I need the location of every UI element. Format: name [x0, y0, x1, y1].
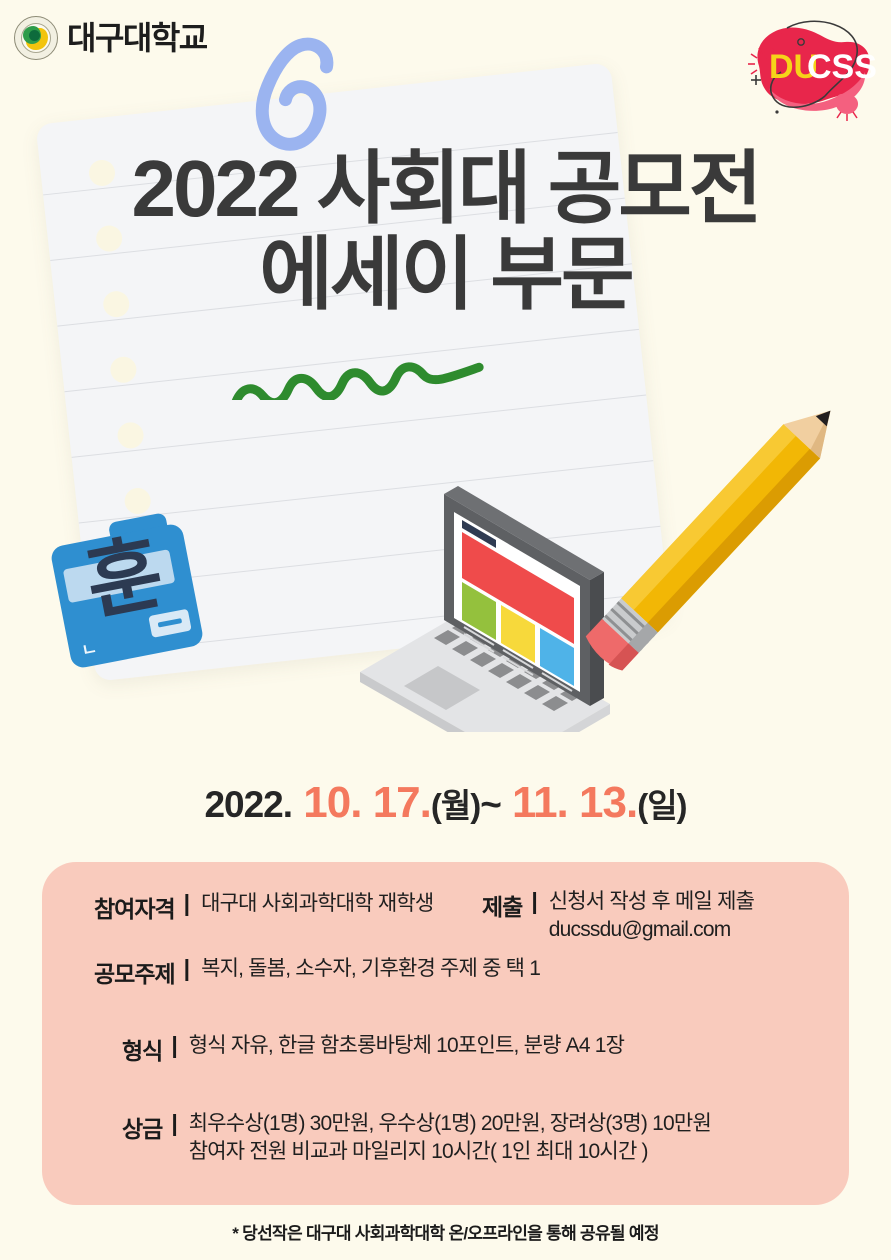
- paper-punch-hole: [109, 355, 138, 384]
- prize-value: 최우수상(1명) 30만원, 우수상(1명) 20만원, 장려상(3명) 10만…: [189, 1110, 711, 1166]
- title-line-1: 2022 사회대 공모전: [0, 148, 891, 230]
- pencil-icon: [548, 378, 866, 708]
- paper-punch-hole: [116, 421, 145, 450]
- date-end-weekday: (일): [637, 787, 686, 824]
- submit-value: 신청서 작성 후 메일 제출 ducssdu@gmail.com: [549, 888, 754, 944]
- date-end-month: 11.: [512, 778, 568, 827]
- paperclip-icon: [236, 28, 360, 168]
- hun-card-icon: 훈 ㄴ: [49, 522, 204, 669]
- poster-canvas: 대구대학교 DU CSS: [0, 0, 891, 1260]
- date-range-tilde: ~: [480, 784, 501, 825]
- eligibility-label: 참여자격: [94, 890, 175, 924]
- poster-title: 2022 사회대 공모전 에세이 부문: [0, 148, 891, 315]
- format-value: 형식 자유, 한글 함초롱바탕체 10포인트, 분량 A4 1장: [189, 1032, 624, 1060]
- prize-label: 상금: [122, 1110, 162, 1144]
- row-divider: |: [171, 1032, 177, 1059]
- format-label: 형식: [122, 1032, 162, 1066]
- university-seal-icon: [14, 16, 58, 60]
- green-squiggle-underline-icon: [228, 358, 488, 400]
- university-brand: 대구대학교: [14, 16, 207, 60]
- topic-label: 공모주제: [94, 955, 175, 989]
- prize-awards: 최우수상(1명) 30만원, 우수상(1명) 20만원, 장려상(3명) 10만…: [189, 1110, 711, 1138]
- prize-mileage: 참여자 전원 비교과 마일리지 10시간( 1인 최대 10시간 ): [189, 1138, 711, 1166]
- title-line-2: 에세이 부문: [0, 234, 891, 316]
- row-divider: |: [531, 888, 537, 915]
- university-name: 대구대학교: [67, 22, 207, 54]
- date-start-month: 10.: [303, 778, 361, 827]
- detail-row-submission: 제출 | 신청서 작성 후 메일 제출 ducssdu@gmail.com: [482, 888, 754, 944]
- detail-row-eligibility: 참여자격 | 대구대 사회과학대학 재학생: [94, 890, 433, 924]
- submit-instruction: 신청서 작성 후 메일 제출: [549, 888, 754, 916]
- paper-punch-hole: [123, 487, 152, 516]
- details-panel: 참여자격 | 대구대 사회과학대학 재학생 제출 | 신청서 작성 후 메일 제…: [42, 862, 849, 1205]
- date-start-weekday: (월): [431, 787, 480, 824]
- detail-row-prize: 상금 | 최우수상(1명) 30만원, 우수상(1명) 20만원, 장려상(3명…: [122, 1110, 711, 1166]
- footnote-text: * 당선작은 대구대 사회과학대학 온/오프라인을 통해 공유될 예정: [0, 1219, 891, 1244]
- hun-card-corner-mark: ㄴ: [80, 640, 99, 660]
- date-end-day: 13.: [579, 778, 637, 827]
- submit-label: 제출: [482, 888, 522, 922]
- event-date-line: 2022. 10. 17.(월)~ 11. 13.(일): [0, 778, 891, 828]
- ducss-club-logo: DU CSS: [729, 8, 879, 126]
- submit-email[interactable]: ducssdu@gmail.com: [549, 916, 754, 944]
- row-divider: |: [184, 955, 190, 982]
- row-divider: |: [184, 890, 190, 917]
- detail-row-topic: 공모주제 | 복지, 돌봄, 소수자, 기후환경 주제 중 택 1: [94, 955, 540, 989]
- row-divider: |: [171, 1110, 177, 1137]
- ducss-logo-css: CSS: [807, 48, 877, 86]
- topic-value: 복지, 돌봄, 소수자, 기후환경 주제 중 택 1: [201, 955, 540, 983]
- date-year: 2022.: [204, 784, 292, 825]
- date-start-day: 17.: [373, 778, 431, 827]
- eligibility-value: 대구대 사회과학대학 재학생: [201, 890, 433, 918]
- detail-row-format: 형식 | 형식 자유, 한글 함초롱바탕체 10포인트, 분량 A4 1장: [122, 1032, 624, 1066]
